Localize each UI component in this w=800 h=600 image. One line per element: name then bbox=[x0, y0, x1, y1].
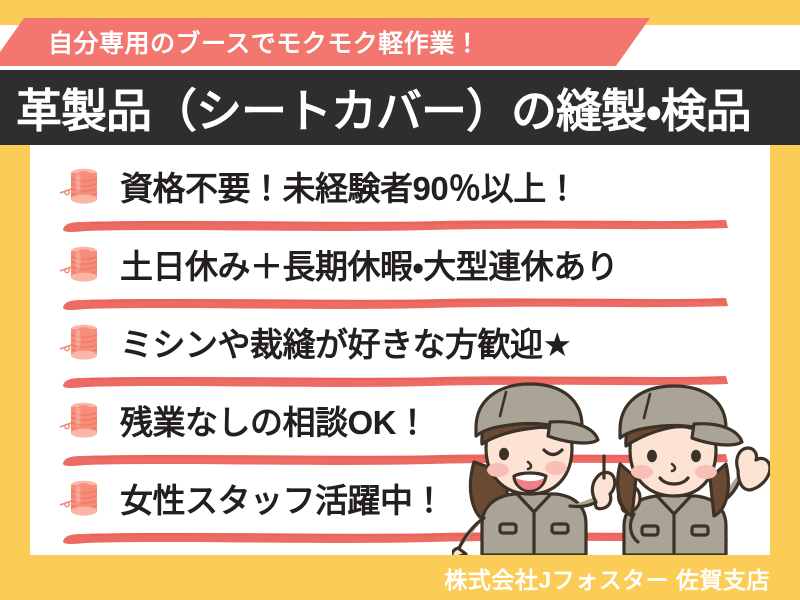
ribbon-band: 自分専用のブースでモクモク軽作業！ bbox=[0, 0, 800, 78]
two-female-workers-illustration bbox=[452, 378, 770, 555]
list-item-label: 資格不要！未経験者90％以上！ bbox=[120, 162, 578, 210]
list-item-label: ミシンや裁縫が好きな方歓迎★ bbox=[120, 318, 572, 366]
catchphrase-ribbon: 自分専用のブースでモクモク軽作業！ bbox=[0, 18, 650, 66]
list-item: 資格不要！未経験者90％以上！ bbox=[30, 159, 770, 237]
list-item-label: 女性スタッフ活躍中！ bbox=[120, 474, 445, 522]
thread-spool-icon bbox=[58, 397, 110, 443]
footer-bar: 株式会社Jフォスター 佐賀支店 bbox=[0, 555, 800, 600]
list-item-label: 残業なしの相談OK！ bbox=[120, 396, 429, 444]
brush-underline bbox=[60, 217, 732, 235]
list-item-label: 土日休み＋長期休暇・大型連休あり bbox=[120, 240, 618, 288]
title-bar: 革製品（シートカバー）の縫製・検品 bbox=[0, 70, 800, 145]
thread-spool-icon bbox=[58, 241, 110, 287]
brush-underline bbox=[60, 295, 732, 313]
thread-spool-icon bbox=[58, 475, 110, 521]
catchphrase-text: 自分専用のブースでモクモク軽作業！ bbox=[48, 24, 480, 60]
job-ad-poster: 自分専用のブースでモクモク軽作業！ 革製品（シートカバー）の縫製・検品 bbox=[0, 0, 800, 600]
thread-spool-icon bbox=[58, 319, 110, 365]
thread-spool-icon bbox=[58, 163, 110, 209]
list-item: 土日休み＋長期休暇・大型連休あり bbox=[30, 237, 770, 315]
company-name: 株式会社Jフォスター 佐賀支店 bbox=[444, 561, 770, 595]
page-title: 革製品（シートカバー）の縫製・検品 bbox=[16, 75, 751, 141]
